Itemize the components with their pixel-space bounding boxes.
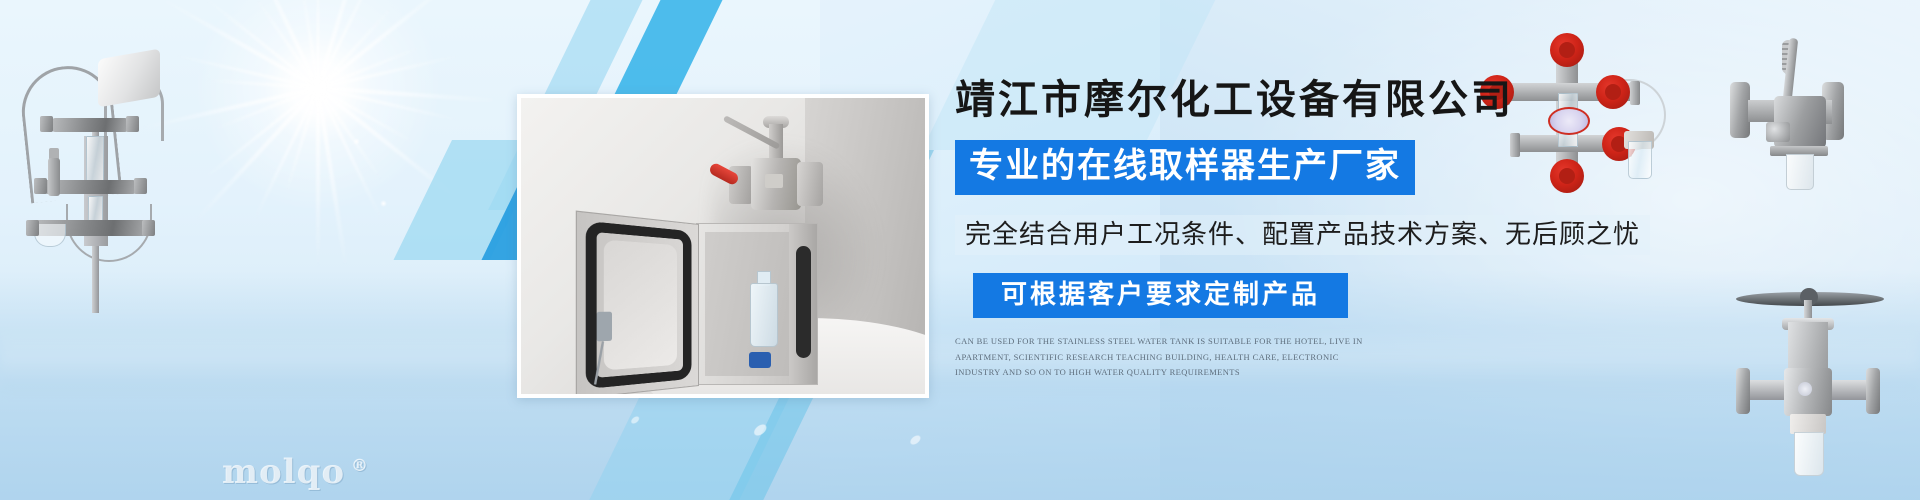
valve-arm-right [1828,380,1870,400]
valve-flange-right [1866,368,1880,414]
lever-valve-flange-left [1730,82,1750,138]
pipe-nut [134,178,147,194]
valve-arm-left [1746,380,1788,400]
watermark-text: molqo [222,452,345,492]
photo-cabinet-door [576,211,699,398]
relief-valve [48,158,60,196]
copy-block: 靖江市摩尔化工设备有限公司 专业的在线取样器生产厂家 完全结合用户工况条件、配置… [955,80,1675,381]
photo-cabinet-side-seal [796,246,811,358]
pipe-nut [26,220,39,236]
sunburst-ray [195,87,320,222]
product-photo [517,94,929,398]
valve-nameplate [1798,382,1812,396]
photo-door-lock [597,312,612,342]
smallprint-description: CAN BE USED FOR THE STAINLESS STEEL WATE… [955,334,1385,381]
photo-sample-bottle [750,283,778,347]
lever-valve-port [1766,122,1790,142]
pipe-nut [34,178,47,194]
handwheel-icon [1550,33,1584,67]
valve-flange-left [1736,368,1750,414]
sparkle-icon [380,200,387,207]
headline-badge: 专业的在线取样器生产厂家 [955,140,1415,195]
registered-mark-icon: ® [351,456,369,476]
valve-header-upper [52,118,128,132]
photo-blue-cap [749,352,771,368]
photo-valve-nameplate [765,174,783,188]
pipe-nut [40,116,53,132]
tagline-badge: 可根据客户要求定制产品 [973,273,1348,318]
lever-valve-sample-bottle [1786,154,1814,190]
sample-bottle [1794,432,1824,476]
photo-door-window [604,240,677,371]
pipe-nut [126,116,139,132]
photo-cabinet-interior [705,232,791,376]
lever-valve-render [1718,30,1888,205]
pipe-nut [142,220,155,236]
photo-sampling-valve [721,118,831,228]
bottle-adapter [1790,414,1826,434]
handwheel-valve-render [1730,282,1900,492]
left-product-render [8,28,178,318]
subheadline: 完全结合用户工况条件、配置产品技术方案、无后顾之忧 [955,215,1650,255]
photo-valve-flange-right [797,162,823,206]
valve-bonnet [1788,322,1828,370]
brand-watermark: molqo® [222,452,369,492]
promo-banner: 靖江市摩尔化工设备有限公司 专业的在线取样器生产厂家 完全结合用户工况条件、配置… [0,0,1920,500]
company-name: 靖江市摩尔化工设备有限公司 [955,80,1675,120]
